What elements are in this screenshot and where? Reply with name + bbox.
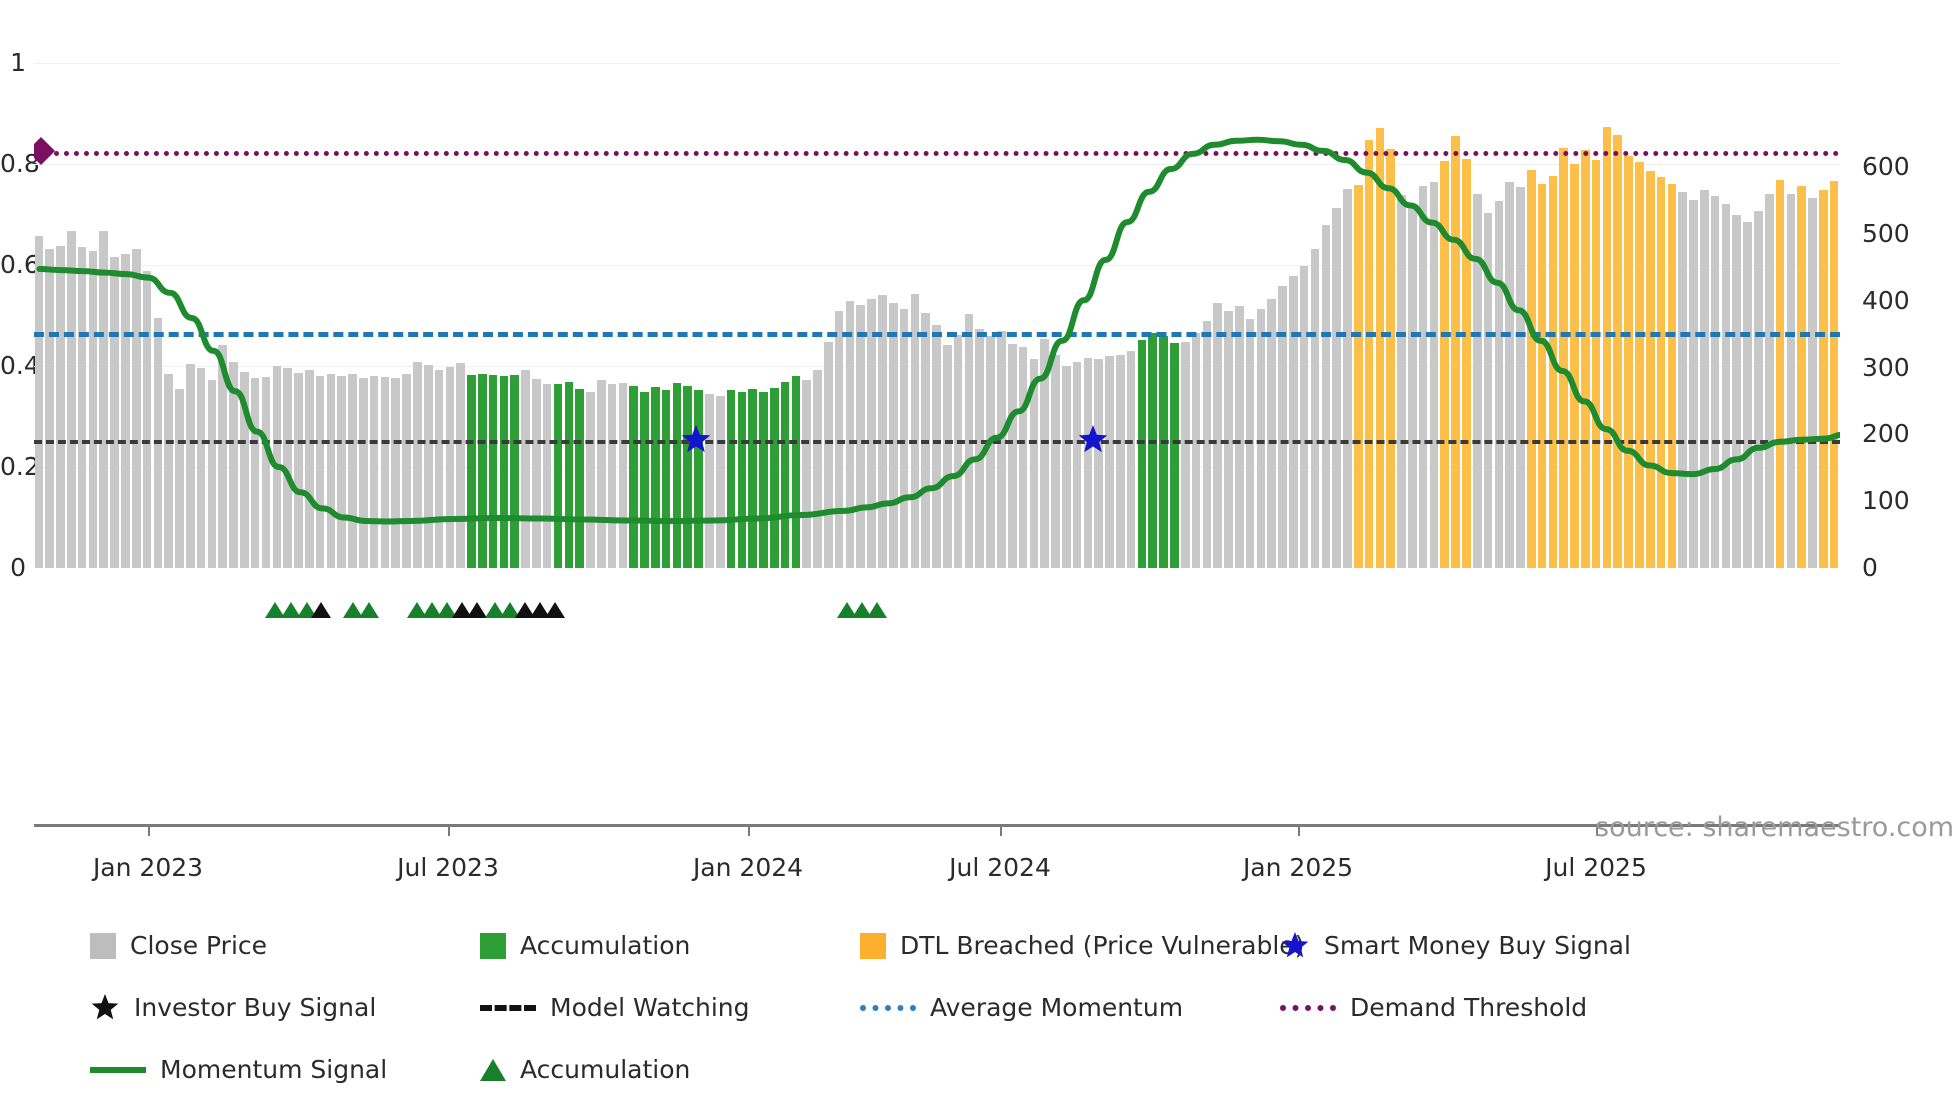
left-axis-tick: 1 xyxy=(0,50,26,75)
x-axis-tick-label: Jan 2024 xyxy=(686,855,810,880)
accumulation-triangle-icon xyxy=(867,602,887,618)
legend-label: Momentum Signal xyxy=(160,1054,387,1085)
chart-root: 00.20.40.60.81 0100200300400500600 Jan 2… xyxy=(0,0,1960,1102)
legend-momentum-signal[interactable]: Momentum Signal xyxy=(90,1054,387,1085)
accumulation-triangle-icon xyxy=(467,602,487,618)
legend-square-icon xyxy=(860,933,886,959)
left-axis-tick: 0.4 xyxy=(0,353,26,378)
x-axis-line xyxy=(34,824,1840,827)
legend-label: Smart Money Buy Signal xyxy=(1324,930,1631,961)
x-tick-mark xyxy=(748,824,750,836)
legend-accumulation-marker[interactable]: Accumulation xyxy=(480,1054,690,1085)
right-axis-tick: 500 xyxy=(1862,221,1910,246)
legend-star-icon xyxy=(1280,931,1310,961)
smart-money-star-icon xyxy=(678,422,714,458)
momentum-line xyxy=(34,30,1840,568)
demand-threshold-diamond xyxy=(34,134,58,168)
legend-smart-money[interactable]: Smart Money Buy Signal xyxy=(1280,930,1631,961)
right-axis-tick: 400 xyxy=(1862,288,1910,313)
x-axis-tick-label: Jan 2023 xyxy=(86,855,210,880)
chart-legend: Close PriceAccumulationDTL Breached (Pri… xyxy=(90,930,1930,1023)
x-tick-mark xyxy=(148,824,150,836)
legend-label: Close Price xyxy=(130,930,267,961)
left-axis-tick: 0.6 xyxy=(0,252,26,277)
legend-close-price[interactable]: Close Price xyxy=(90,930,267,961)
x-tick-mark xyxy=(1000,824,1002,836)
legend-label: DTL Breached (Price Vulnerable) xyxy=(900,930,1304,961)
left-axis-tick: 0.2 xyxy=(0,454,26,479)
source-attribution: source: sharemaestro.com xyxy=(1595,812,1954,843)
legend-line-icon xyxy=(90,1067,146,1073)
plot-inner xyxy=(34,30,1840,568)
legend-square-icon xyxy=(480,933,506,959)
legend-triangle-icon xyxy=(480,1059,506,1081)
right-axis-tick: 0 xyxy=(1862,555,1878,580)
x-axis-tick-label: Jan 2025 xyxy=(1236,855,1360,880)
x-axis-tick-label: Jul 2023 xyxy=(386,855,510,880)
legend-label: Accumulation xyxy=(520,930,690,961)
legend-label: Accumulation xyxy=(520,1054,690,1085)
x-axis-tick-label: Jul 2025 xyxy=(1534,855,1658,880)
x-tick-mark xyxy=(448,824,450,836)
accumulation-triangle-icon xyxy=(359,602,379,618)
legend-row: Close PriceAccumulationDTL Breached (Pri… xyxy=(90,930,1930,961)
right-axis-tick: 300 xyxy=(1862,355,1910,380)
plot-area xyxy=(34,30,1840,568)
right-axis-tick: 100 xyxy=(1862,488,1910,513)
legend-square-icon xyxy=(90,933,116,959)
legend-dtl-breached[interactable]: DTL Breached (Price Vulnerable) xyxy=(860,930,1304,961)
left-axis-tick: 0.8 xyxy=(0,151,26,176)
accumulation-triangle-icon xyxy=(545,602,565,618)
x-tick-mark xyxy=(1298,824,1300,836)
smart-money-star-icon xyxy=(1075,422,1111,458)
legend-row: Momentum SignalAccumulation xyxy=(90,992,1930,1023)
left-axis-tick: 0 xyxy=(0,555,26,580)
accumulation-triangle-icon xyxy=(311,602,331,618)
momentum-path xyxy=(39,129,1840,522)
legend-accumulation-bar[interactable]: Accumulation xyxy=(480,930,690,961)
x-axis-tick-label: Jul 2024 xyxy=(938,855,1062,880)
right-axis-tick: 600 xyxy=(1862,154,1910,179)
right-axis-tick: 200 xyxy=(1862,421,1910,446)
legend-row: Investor Buy SignalModel WatchingAverage… xyxy=(90,961,1930,992)
